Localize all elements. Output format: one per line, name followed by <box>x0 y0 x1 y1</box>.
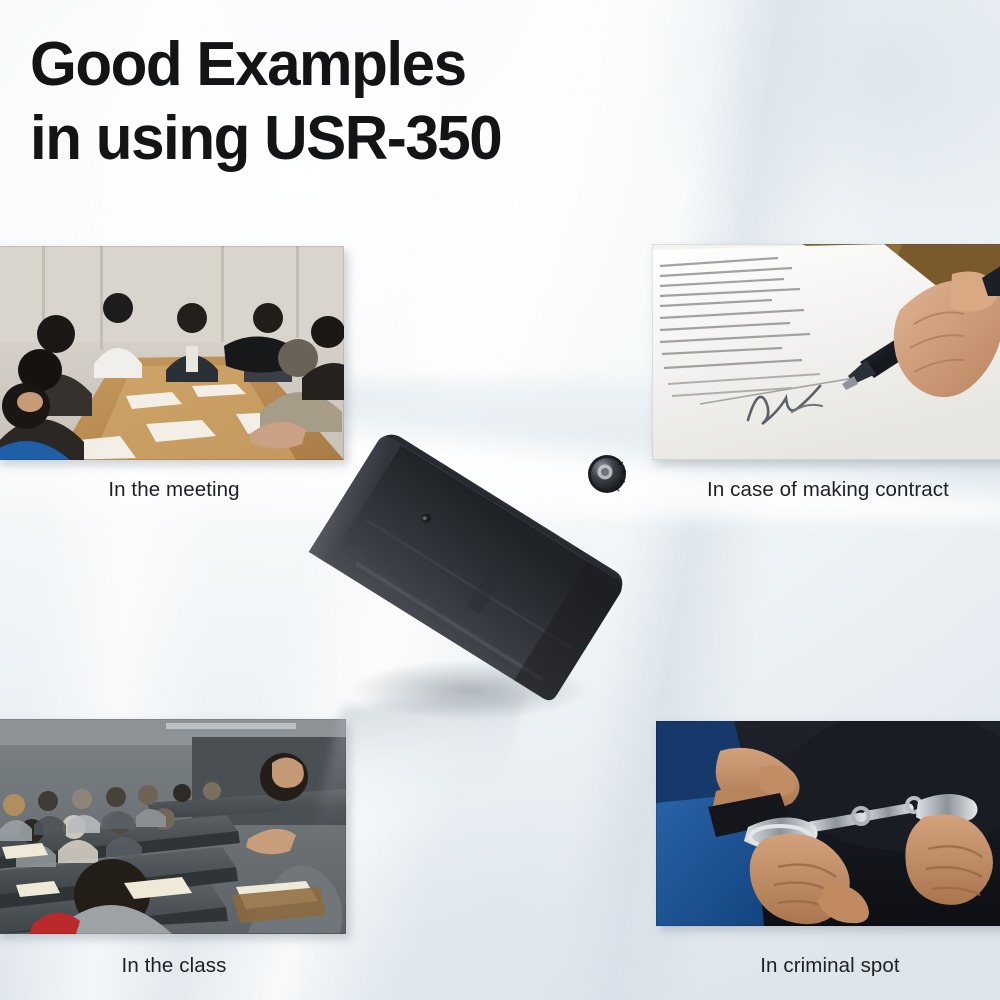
product-marketing-banner: Good Examples in using USR-350 <box>0 0 1000 1000</box>
page-title-line-2: in using USR-350 <box>30 102 728 176</box>
caption-criminal: In criminal spot <box>656 954 1000 978</box>
page-title-line-1: Good Examples <box>30 28 728 102</box>
usr350-recorder <box>318 428 648 738</box>
caption-contract: In case of making contract <box>652 478 1000 502</box>
criminal-photo <box>656 721 1000 926</box>
caption-class: In the class <box>0 954 348 978</box>
page-title: Good Examples in using USR-350 <box>30 28 728 176</box>
product-device-usr350 <box>318 428 648 738</box>
class-photo <box>0 719 346 934</box>
meeting-photo <box>0 246 344 460</box>
contract-photo <box>652 244 1000 460</box>
photo-class <box>0 719 346 934</box>
photo-contract <box>652 244 1000 460</box>
photo-criminal <box>656 721 1000 926</box>
caption-meeting: In the meeting <box>0 478 348 502</box>
photo-meeting <box>0 246 344 460</box>
